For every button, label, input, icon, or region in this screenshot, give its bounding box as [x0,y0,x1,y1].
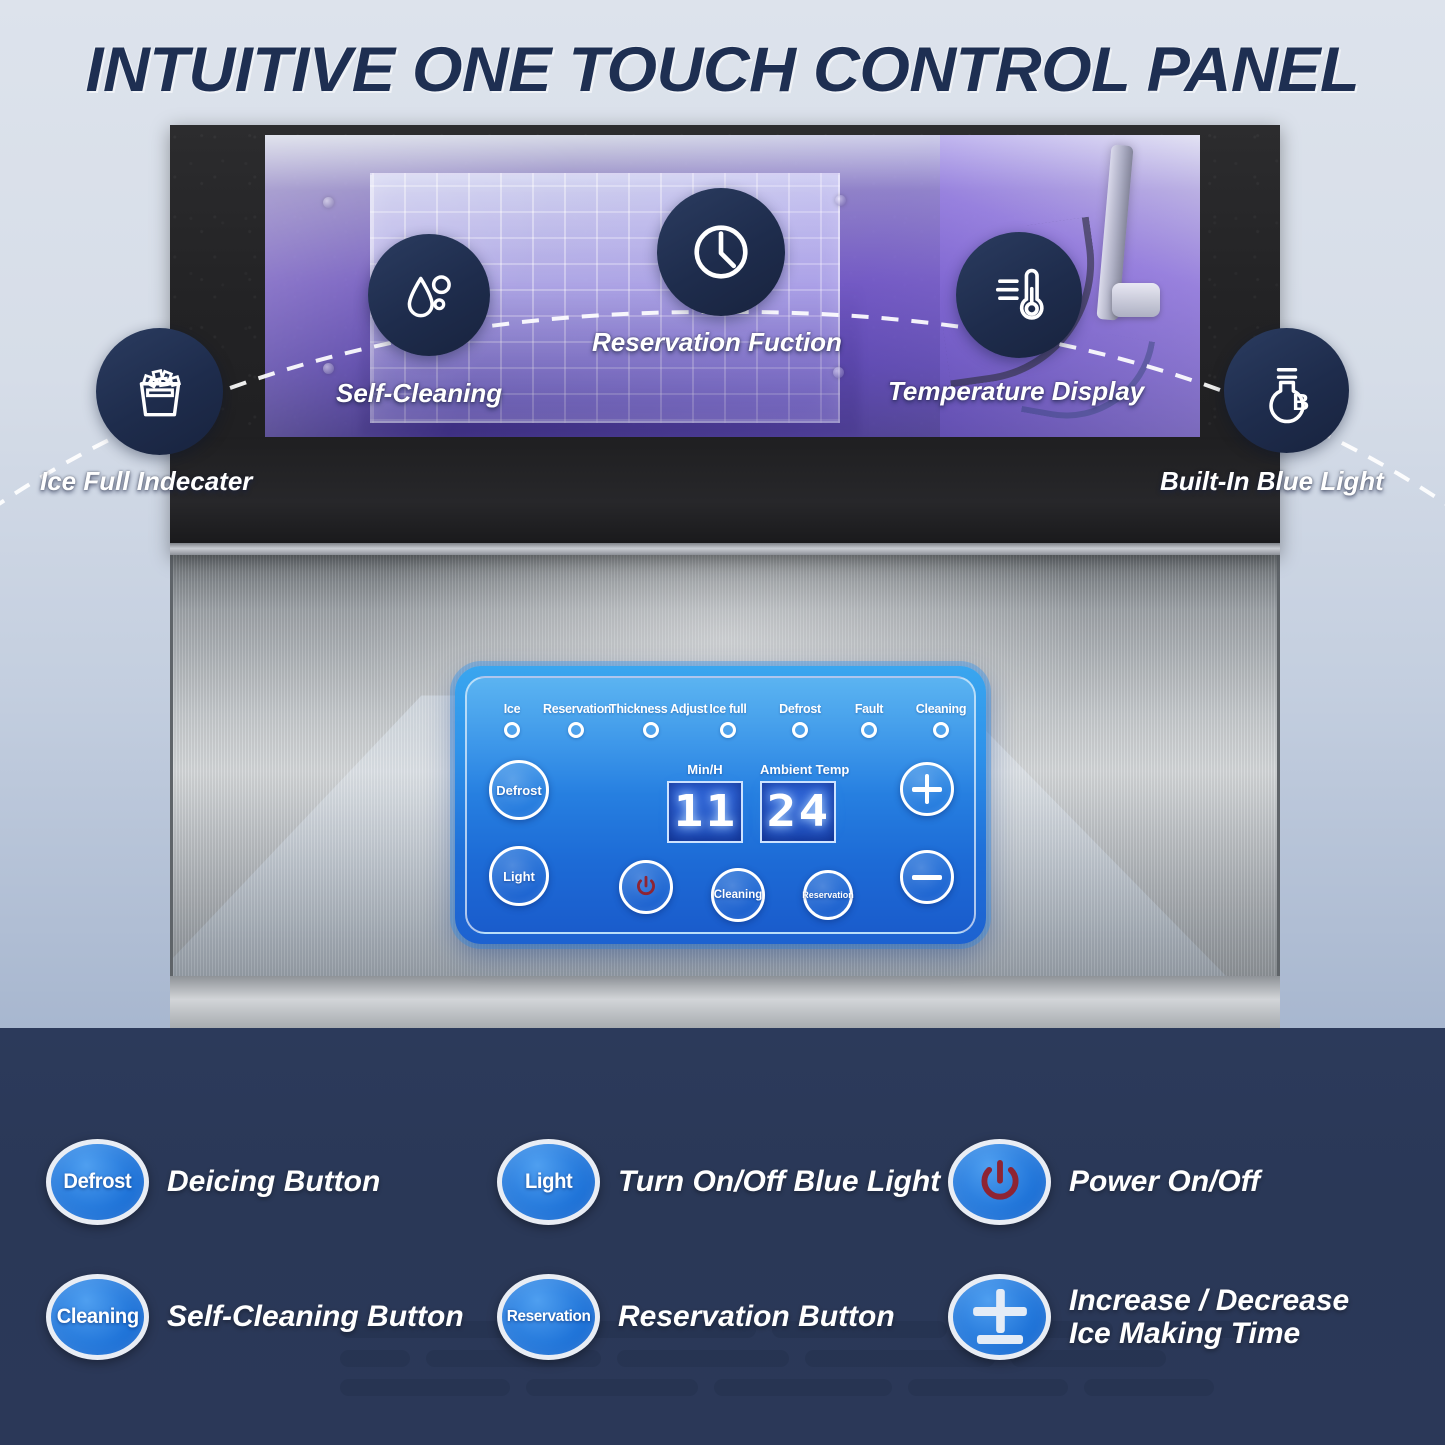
led-indicator-icon [504,722,520,738]
display-group: Min/H 11 Ambient Temp 24 [667,762,849,843]
legend-item-light: Light Turn On/Off Blue Light [497,1114,948,1250]
ice-chamber [265,135,1200,443]
indicator-cleaning: Cleaning [901,702,976,738]
legend-item-cleaning: Cleaning Self-Cleaning Button [46,1250,497,1386]
display-value: 24 [766,790,830,834]
page-title-container: INTUITIVE ONE TOUCH CONTROL PANEL [0,34,1445,106]
cleaning-legend-button[interactable]: Cleaning [46,1274,149,1360]
indicator-ice: Ice [481,702,543,738]
defrost-button-label: Defrost [496,783,542,798]
control-panel-face: Ice Reservation Thickness Adjust Ice ful… [465,676,976,934]
display-caption: Min/H [667,762,743,777]
power-icon [974,1156,1026,1208]
defrost-legend-button[interactable]: Defrost [46,1139,149,1225]
reservation-legend-button[interactable]: Reservation [497,1274,600,1360]
legend-text-cleaning: Self-Cleaning Button [167,1300,464,1334]
led-indicator-icon [568,722,584,738]
minus-icon [912,862,942,892]
indicator-reservation: Reservation [543,702,609,738]
legend-item-increase-decrease: Increase / Decrease Ice Making Time [948,1250,1399,1386]
plus-icon [912,774,942,804]
light-legend-button[interactable]: Light [497,1139,600,1225]
indicator-label: Cleaning [901,702,976,716]
light-legend-label: Light [525,1170,572,1194]
reservation-legend-label: Reservation [507,1308,591,1326]
indicator-row: Ice Reservation Thickness Adjust Ice ful… [481,702,976,738]
indicator-label: Ice [481,702,543,716]
plus-minus-legend-button[interactable] [948,1274,1051,1360]
ice-maker-photo [170,125,1280,555]
indicator-defrost: Defrost [763,702,837,738]
legend-grid: Defrost Deicing Button Light Turn On/Off… [0,1028,1445,1445]
legend-text-defrost: Deicing Button [167,1165,380,1199]
reservation-button[interactable]: Reservation [803,870,853,920]
reservation-button-label: Reservation [802,890,854,900]
power-legend-button[interactable] [948,1139,1051,1225]
svg-text:B: B [1292,389,1309,415]
power-icon [633,874,659,900]
legend-text-increase-decrease: Increase / Decrease Ice Making Time [1069,1284,1349,1351]
legend-item-reservation: Reservation Reservation Button [497,1250,948,1386]
plus-minus-icon [973,1289,1027,1345]
display-min-h: Min/H 11 [667,762,743,843]
indicator-ice-full: Ice full [693,702,763,738]
legend-item-power: Power On/Off [948,1114,1399,1250]
legend-item-defrost: Defrost Deicing Button [46,1114,497,1250]
defrost-button[interactable]: Defrost [489,760,549,820]
led-indicator-icon [792,722,808,738]
indicator-label: Ice full [693,702,763,716]
indicator-label: Reservation [543,702,609,716]
display-ambient-temp: Ambient Temp 24 [760,762,849,843]
indicator-label: Fault [837,702,901,716]
indicator-fault: Fault [837,702,901,738]
display-caption: Ambient Temp [760,762,849,777]
cleaning-legend-label: Cleaning [56,1305,138,1329]
legend-text-line1: Increase / Decrease [1069,1284,1349,1318]
cleaning-button-label: Cleaning [714,889,763,901]
led-indicator-icon [643,722,659,738]
legend-text-light: Turn On/Off Blue Light [618,1165,940,1199]
indicator-label: Thickness Adjust [609,702,693,716]
light-button-label: Light [503,869,535,884]
led-indicator-icon [861,722,877,738]
indicator-label: Defrost [763,702,837,716]
control-panel-magnified[interactable]: Ice Reservation Thickness Adjust Ice ful… [455,666,986,944]
indicator-thickness-adjust: Thickness Adjust [609,702,693,738]
display-screen: 11 [667,781,743,843]
display-value: 11 [673,790,737,834]
legend-text-reservation: Reservation Button [618,1300,895,1334]
led-indicator-icon [720,722,736,738]
chamber-glass-reflection [265,135,1200,443]
defrost-legend-label: Defrost [64,1170,132,1194]
power-button[interactable] [619,860,673,914]
machine-base [170,437,1280,555]
legend-text-line2: Ice Making Time [1069,1317,1349,1351]
machine-bezel [170,125,1280,555]
legend-section: Defrost Deicing Button Light Turn On/Off… [0,1028,1445,1445]
light-button[interactable]: Light [489,846,549,906]
legend-text-power: Power On/Off [1069,1165,1260,1199]
led-indicator-icon [933,722,949,738]
decrease-button[interactable] [900,850,954,904]
display-screen: 24 [760,781,836,843]
increase-button[interactable] [900,762,954,816]
cleaning-button[interactable]: Cleaning [711,868,765,922]
page-title: INTUITIVE ONE TOUCH CONTROL PANEL [86,34,1360,106]
body-bottom-strip [170,976,1280,1028]
